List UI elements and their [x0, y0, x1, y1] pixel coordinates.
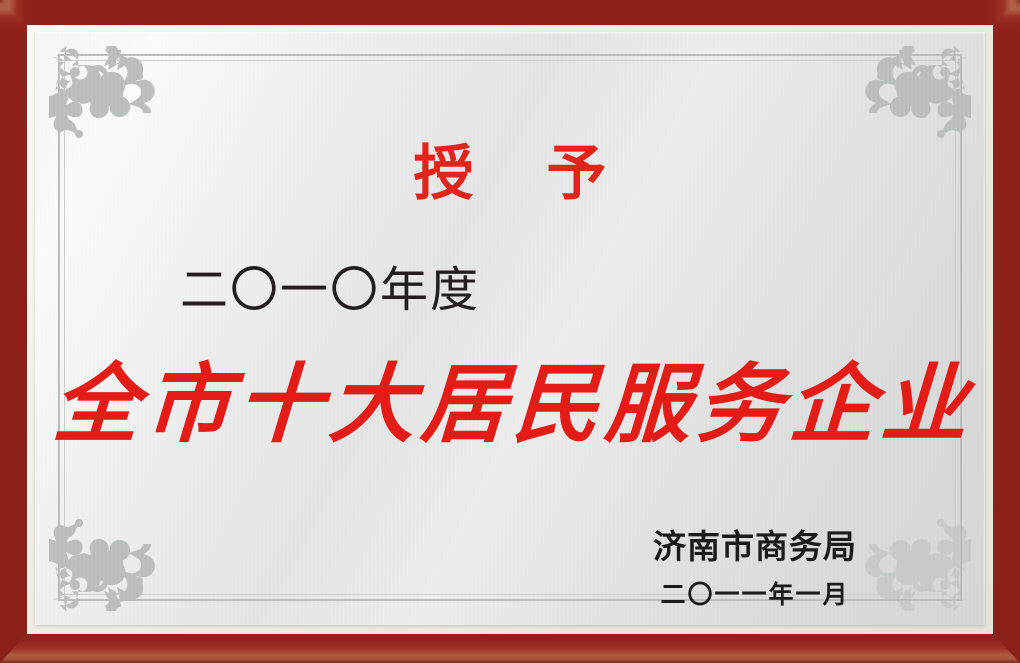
award-year: 二〇一〇年度: [180, 266, 480, 314]
issuer-name: 济南市商务局: [653, 530, 857, 563]
award-plaque: 授 予 二〇一〇年度 全市十大居民服务企业 济南市商务局 二〇一一年一月: [0, 0, 1020, 663]
plaque-content: 授 予 二〇一〇年度 全市十大居民服务企业 济南市商务局 二〇一一年一月: [35, 32, 985, 625]
award-verb: 授 予: [35, 144, 985, 204]
metal-plate: 授 予 二〇一〇年度 全市十大居民服务企业 济南市商务局 二〇一一年一月: [35, 32, 985, 625]
award-title: 全市十大居民服务企业: [35, 360, 985, 450]
issuer-block: 济南市商务局 二〇一一年一月: [653, 530, 857, 607]
issuer-date: 二〇一一年一月: [653, 582, 857, 607]
